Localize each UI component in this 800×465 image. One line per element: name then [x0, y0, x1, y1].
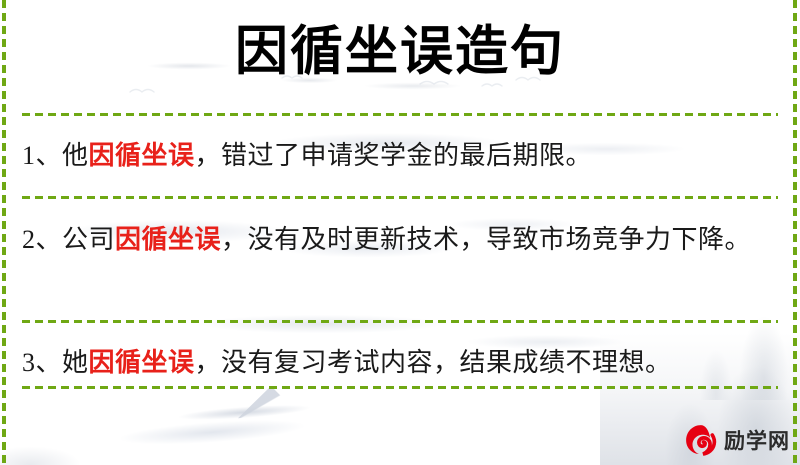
sentence-1-suffix: ，错过了申请奖学金的最后期限。 — [195, 141, 593, 170]
site-logo[interactable]: 励学网 — [684, 423, 790, 457]
sentence-1-idiom: 因循坐误 — [89, 141, 195, 170]
sentence-item-3: 3、她因循坐误，没有复习考试内容，结果成绩不理想。 — [22, 341, 774, 385]
watermark-boat-sail — [238, 386, 298, 420]
swirl-flame-logo-icon — [684, 423, 718, 457]
watermark-mountain-left — [0, 395, 120, 465]
logo-text: 励学网 — [724, 425, 790, 455]
sentence-1-prefix: 他 — [62, 141, 89, 170]
sentence-2-prefix: 公司 — [62, 225, 115, 254]
sentence-1-number: 1、 — [22, 141, 62, 170]
sentence-3-suffix: ，没有复习考试内容，结果成绩不理想。 — [195, 348, 672, 377]
separator-3 — [22, 320, 778, 323]
sentence-3-prefix: 她 — [62, 348, 89, 377]
sentence-2-suffix: ，没有及时更新技术，导致市场竞争力下降。 — [221, 225, 751, 254]
sentence-item-2: 2、公司因循坐误，没有及时更新技术，导致市场竞争力下降。 — [22, 218, 774, 262]
sentence-3-number: 3、 — [22, 348, 62, 377]
sentence-2-number: 2、 — [22, 225, 62, 254]
sentence-2-idiom: 因循坐误 — [115, 225, 221, 254]
poster-page: 因循坐误造句 1、他因循坐误，错过了申请奖学金的最后期限。 2、公司因循坐误，没… — [0, 0, 800, 465]
watermark-boat-hull — [118, 381, 381, 454]
separator-2 — [22, 196, 778, 199]
separator-1 — [22, 113, 778, 116]
page-title: 因循坐误造句 — [0, 22, 800, 83]
sentence-3-idiom: 因循坐误 — [89, 348, 195, 377]
sentence-item-1: 1、他因循坐误，错过了申请奖学金的最后期限。 — [22, 134, 774, 178]
separator-4 — [22, 386, 778, 389]
